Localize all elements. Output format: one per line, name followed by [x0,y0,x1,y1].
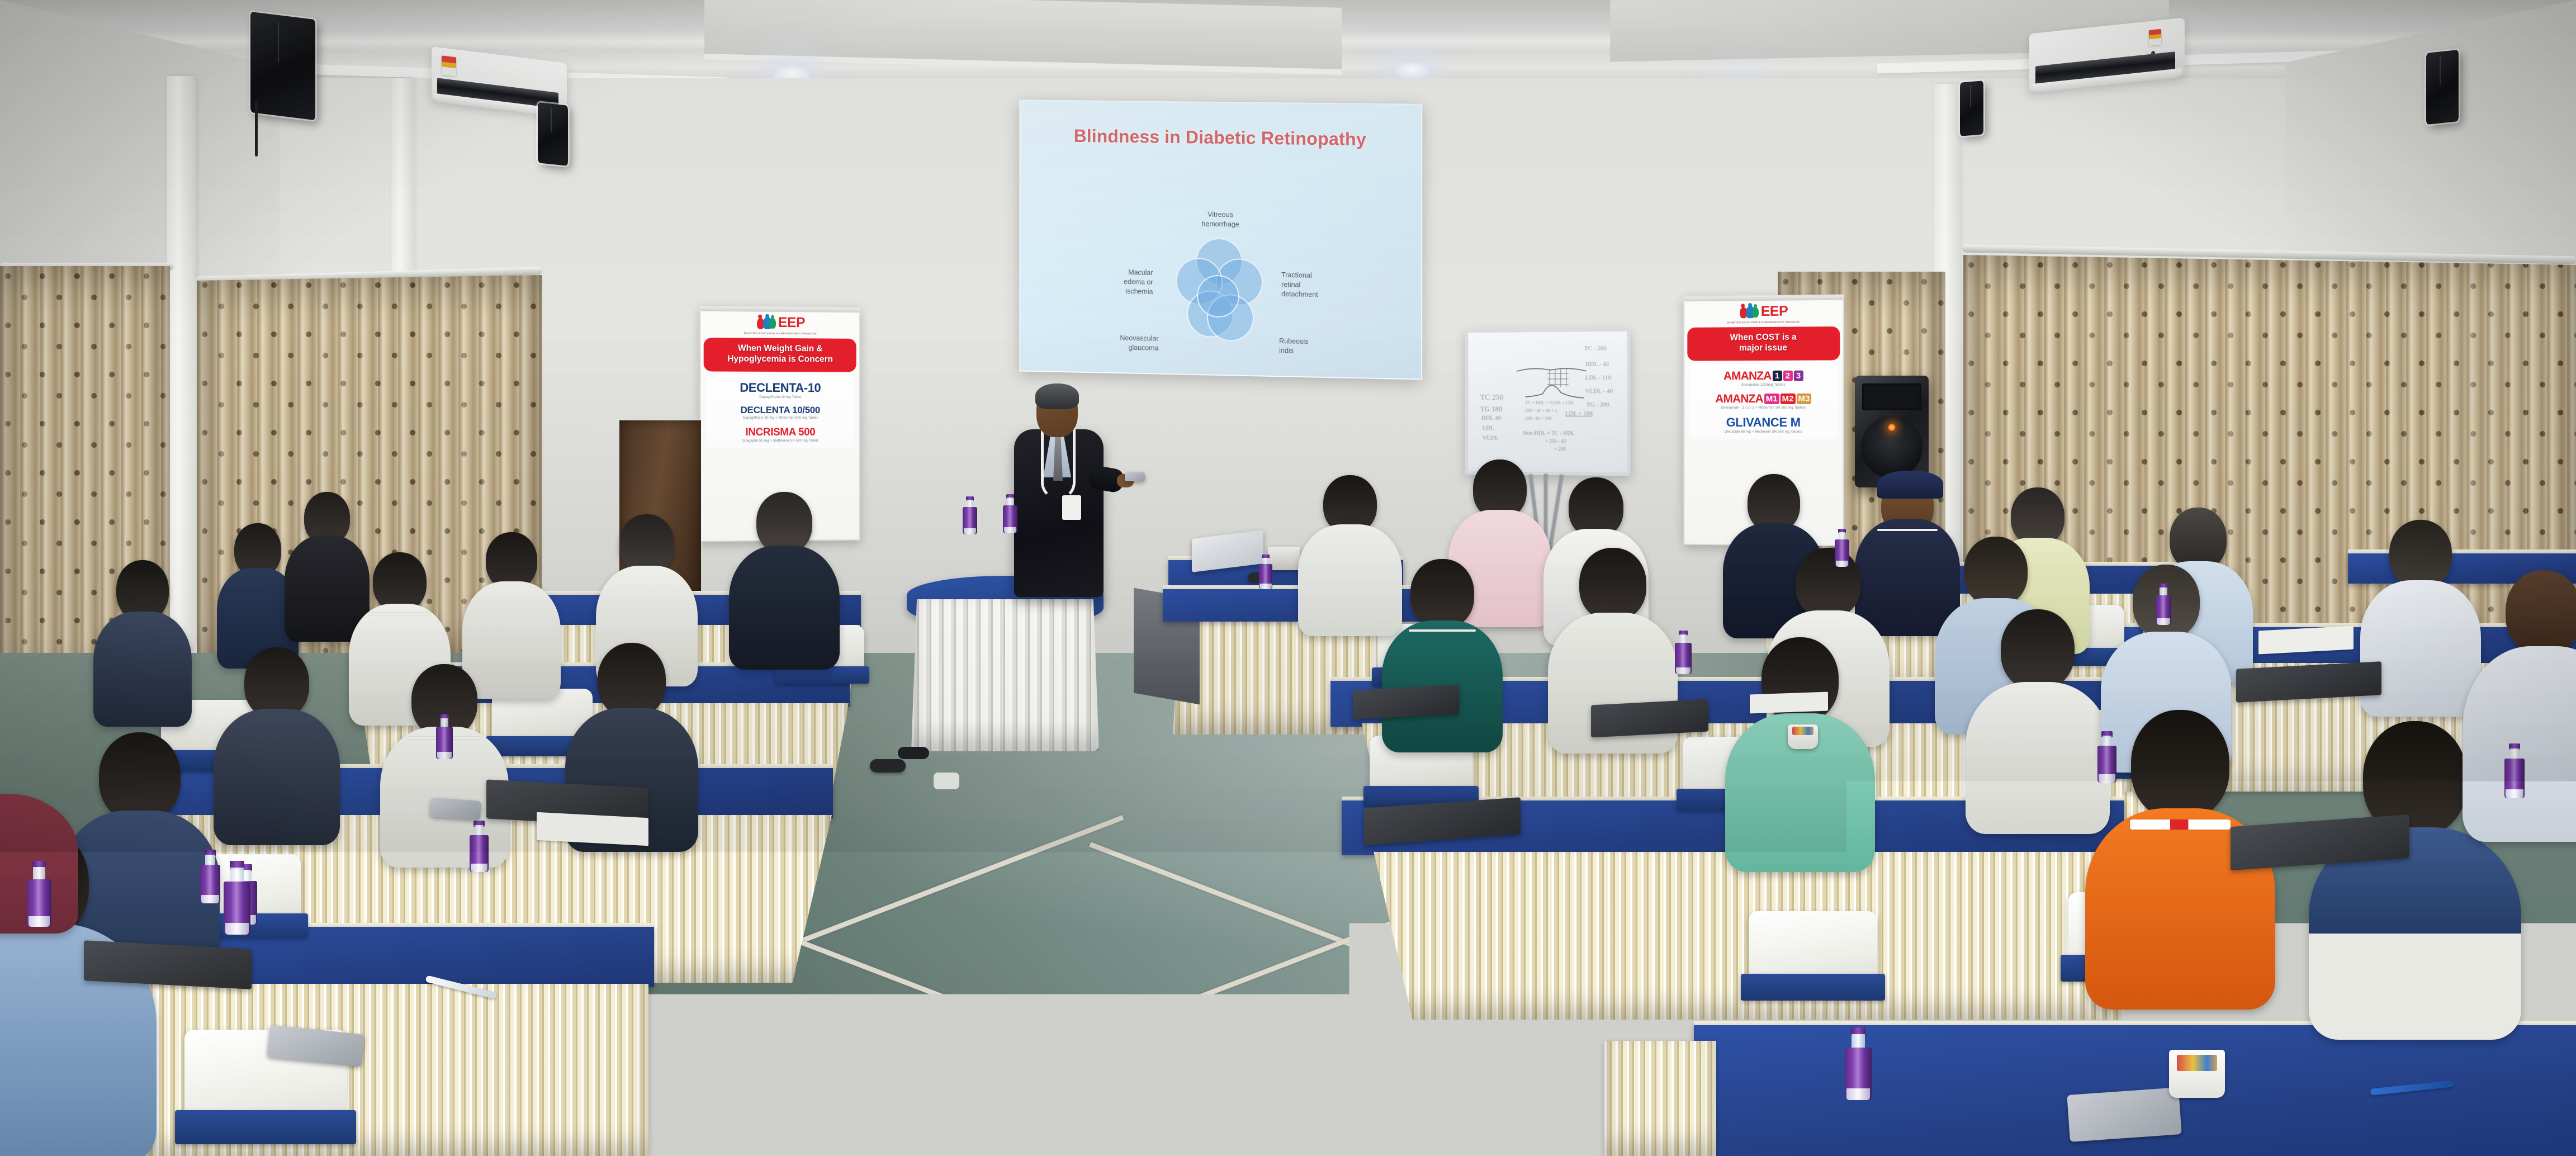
head [756,492,812,553]
bottle-base [2506,789,2523,798]
inlay-line [798,815,1124,944]
water-bottle[interactable] [200,850,220,903]
whiteboard-note: HDL 40 [1481,415,1501,421]
whiteboard-note: = 208 [1554,446,1566,452]
attendee-far-right-edge [2482,570,2576,838]
projection-screen: Blindness in Diabetic Retinopathy Vitreo… [1019,100,1422,380]
lanyard [1877,529,1938,531]
laptop[interactable] [1353,685,1459,719]
bottle-base [2157,618,2171,625]
bottle-base [2099,774,2115,783]
bottle-base [1846,1088,1870,1100]
notepad[interactable] [537,812,648,846]
bottle-base [1836,561,1849,567]
whiteboard-note: VLDL [1483,435,1499,442]
whiteboard-note: VLDL - 40 [1585,388,1613,395]
smartphone-on-table[interactable] [430,798,481,820]
water-bottle[interactable] [1835,529,1849,567]
energy-rating-sticker [2149,29,2161,46]
product-amanza-m: AMANZA [1715,392,1763,406]
shoe [870,759,906,773]
water-bottle[interactable] [1675,631,1692,674]
torso [1298,524,1402,636]
whiteboard: TC - 260 HDL - 42 LDL - 110 VLDL - 40 TG… [1465,328,1631,476]
notepad[interactable] [2258,626,2354,655]
speaker-horn [1862,383,1921,410]
head [373,552,427,612]
venn-label-tractional-detachment: Tractional retinal detachment [1281,271,1371,301]
whiteboard-note: TG 180 [1480,405,1502,414]
product-amanza-m-row: AMANZA M1 M2 M3 [1692,392,1835,406]
speaker-cable [255,101,258,157]
head [2131,710,2229,819]
wall-speaker-far-right [2426,50,2459,125]
attendee [1739,637,1862,861]
water-bottle[interactable] [436,714,453,759]
product-glivance-m-sub: Gliclazide 80 mg + Metformin SR 500 mg T… [1692,430,1835,434]
table-skirt [1351,852,2124,1020]
amanza-chip-1: 1 [1773,371,1782,381]
venn-label-macular-edema: Macular edema or ischemia [1064,267,1153,296]
deep-logo-text: EEP [1761,304,1788,318]
product-amanza-m-sub: Glimepiride - 1 / 2 / 3 + Metformin SR 5… [1692,406,1835,410]
amanza-chip-2: 2 [1783,371,1793,381]
table-skirt [1604,1041,1716,1156]
smartphone-on-table[interactable] [2067,1087,2181,1142]
whiteboard-note: 250 = 42 + 40 + x [1525,408,1557,413]
slide-title: Blindness in Diabetic Retinopathy [1020,125,1421,150]
deep-logo-icon [756,314,777,331]
attendee [101,560,184,717]
notepad[interactable] [1750,692,1828,714]
wall-speaker-right-of-ac [1960,80,1983,136]
deep-logo-subtitle: DIABETES EDUCATION & EMPOWERMENT PROGRAM [1684,320,1843,324]
wall-speaker-left-wall [250,12,315,120]
torso [214,709,340,845]
crumpled-tissue [934,773,959,789]
torso [729,546,840,670]
amanza-chip-3: 3 [1794,371,1803,381]
water-bottle[interactable] [2504,743,2525,798]
watermark-network: 5G [219,1088,271,1120]
product-incrisma-500: INCRISMA 500 [709,427,851,439]
bottle-base [964,528,977,534]
deep-logo-subtitle: DIABETES EDUCATION & EMPOWERMENT PROGRAM [701,331,859,335]
attendee [737,492,832,665]
presenter-speaker [1006,386,1118,626]
venn-circle-center [1197,274,1239,318]
sachet-cup[interactable] [2169,1050,2225,1098]
whiteboard-note: TC 250 [1480,394,1504,402]
whiteboard-note: TC - 260 [1584,345,1607,352]
venn-circles [1172,238,1266,354]
venn-label-rubeosis-iridis: Rubeosis iridis [1279,337,1369,357]
head [2506,570,2576,654]
product-amanza-row: AMANZA 1 2 3 [1692,369,1835,383]
whiteboard-sketch [1516,361,1588,408]
conference-room-photo: Blindness in Diabetic Retinopathy Vitreo… [0,0,2576,1156]
water-bottle-foreground[interactable] [224,861,250,935]
torso [1966,682,2110,834]
whiteboard-note: LDL - 110 [1585,375,1611,381]
whiteboard-note: LDL = 168 [1565,410,1593,417]
banner-headline-panel: When Weight Gain & Hypoglycemia is Conce… [704,338,856,372]
head [1796,548,1860,618]
banner-headline-panel: When COST is a major issue [1687,326,1840,361]
banner-products-panel: AMANZA 1 2 3 Glimepiride 1/2/3mg Tablets… [1689,363,1838,439]
bottle-base [1676,667,1690,674]
amanza-m-chip-3: M3 [1796,394,1811,404]
head [598,643,666,718]
water-bottle[interactable] [470,821,489,872]
product-declenta-10: DECLENTA-10 [709,380,851,395]
product-glivance-m: GLIVANCE M [1692,415,1835,430]
presentation-clicker[interactable] [1125,472,1145,481]
attendee [224,647,330,837]
product-declenta-10-500-sub: Dapagliflozin 10 mg + Metformin 500 mg T… [709,416,851,420]
whiteboard-note: TG - 200 [1587,401,1609,408]
head [1579,548,1646,620]
chair-sash [1741,974,1885,1001]
head [1410,559,1474,628]
wall-speaker-left-near-ac [538,102,568,166]
inlay-line [798,939,1124,1068]
water-bottle[interactable] [1003,494,1017,533]
bottle-base [29,916,50,927]
lanyard [1409,629,1476,632]
projected-slide: Blindness in Diabetic Retinopathy Vitreo… [1019,100,1422,380]
presenter-lanyard [1041,427,1076,500]
sachet-cup[interactable] [1788,724,1818,749]
navy-cap-icon [1877,471,1943,499]
inlay-line [1089,842,1414,971]
amanza-m-chip-2: M2 [1781,394,1796,404]
lanyard-eep [2130,819,2231,830]
shoe [898,747,929,759]
attendee [221,523,294,663]
lanyard [369,613,430,615]
energy-rating-sticker [442,55,456,76]
whiteboard-note: = 250 - 42 [1545,438,1566,444]
floor-inlay-pattern [799,827,1414,1068]
water-bottle[interactable] [27,861,51,927]
bottle-base [437,752,452,759]
attendee [291,492,363,637]
banner-products-panel: DECLENTA-10 Dapagliflozin 10 mg Tablet D… [705,375,855,448]
bottle-base [225,923,249,935]
speaker-power-led [1888,424,1896,431]
venn-label-vitreous-hemorrhage: Vitreous hemorrhage [1176,210,1265,230]
head [619,514,674,574]
product-amanza: AMANZA [1723,369,1772,383]
watermark-device: iQOO Z3 [56,1084,208,1124]
bottle-base [201,895,219,903]
head [244,647,309,719]
water-bottle[interactable] [2097,731,2116,783]
bottle-base [1259,584,1271,589]
chair[interactable] [1749,911,1877,989]
banner-headline-line2: Hypoglycemia is Concern [707,354,853,365]
bottle-base [1004,527,1017,533]
venn-label-neovascular-glaucoma: Neovascular glaucoma [1070,333,1158,353]
head [2001,609,2075,690]
torso [2360,580,2481,717]
presenter-hair [1035,383,1079,409]
whiteboard-note: LDL [1483,425,1494,432]
banner-headline-line1: When Weight Gain & [707,343,853,354]
torso [93,612,192,727]
head [486,532,537,589]
projector-unit [1268,547,1300,570]
sachet-contents [1792,727,1814,735]
banner-headline-line1: When COST is a [1690,332,1836,344]
product-declenta-10-500: DECLENTA 10/500 [709,405,851,416]
head [99,732,181,822]
bottle-base [471,864,487,872]
head [2389,520,2452,588]
attendee [2370,520,2471,710]
camera-watermark: iQOO Z3 5G [56,1084,271,1124]
slide-venn-diagram: Vitreous hemorrhage Macular edema or isc… [1020,162,1421,373]
water-bottle[interactable] [1259,555,1272,589]
presenter-id-badge [1062,495,1081,520]
product-incrisma-500-sub: Sitagliptin 50 mg + Metformin SR 500 mg … [709,439,851,443]
amanza-m-chip-1: M1 [1764,394,1779,404]
product-declenta-10-sub: Dapagliflozin 10 mg Tablet [709,396,851,400]
laptop[interactable] [1591,699,1708,737]
banner-headline-line2: major issue [1690,343,1836,354]
whiteboard-note: Non-HDL = TC - HDL [1523,430,1574,437]
attendee [1308,475,1392,632]
deep-logo-text: EEP [778,315,805,329]
product-amanza-sub: Glimepiride 1/2/3mg Tablets [1692,383,1835,387]
head [1964,537,2028,606]
sachet-contents [2177,1055,2217,1071]
inlay-line [1089,912,1414,1041]
whiteboard-note: HDL - 42 [1585,361,1609,367]
deep-logo-icon [1739,303,1760,320]
water-bottle[interactable] [2156,584,2171,625]
attendee [1979,609,2096,827]
water-bottle[interactable] [963,496,977,534]
downlight [1392,63,1432,79]
water-bottle[interactable] [1845,1027,1872,1100]
whiteboard-note: 250 - 82 = 168 [1525,416,1551,421]
